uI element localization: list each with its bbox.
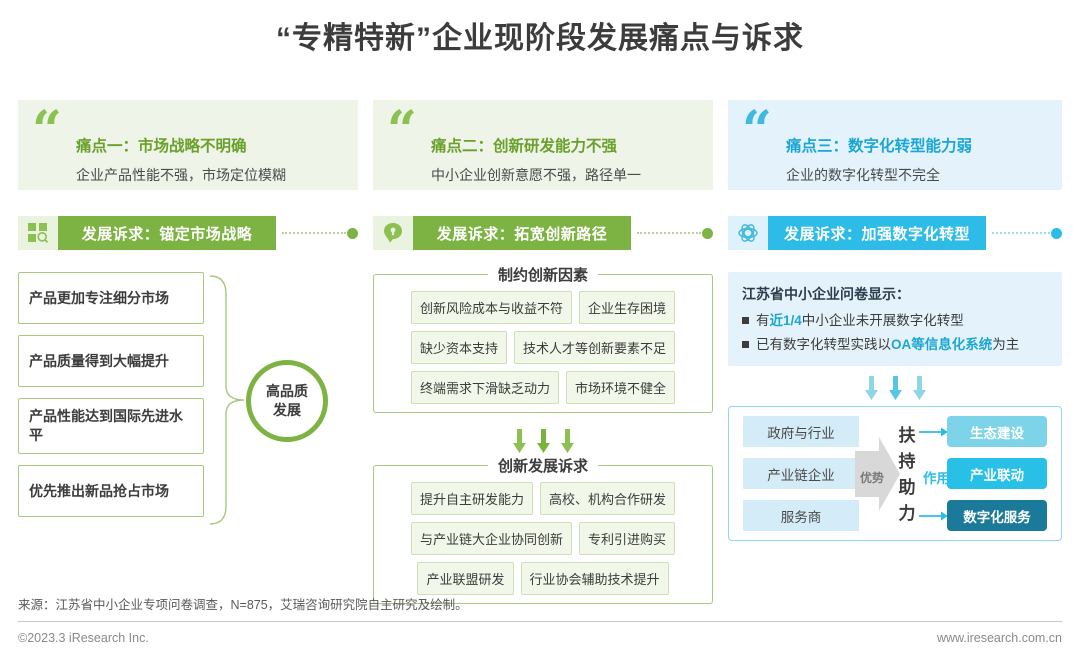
survey-bullet: 已有数字化转型实践以OA等信息化系统为主 [742, 336, 1048, 354]
tag-row: 产业联盟研发 行业协会辅助技术提升 [382, 562, 704, 595]
right-arrow-icon [919, 426, 949, 438]
demand-banner-label: 发展诉求：加强数字化转型 [768, 216, 986, 250]
circle-line-2: 发展 [273, 401, 301, 420]
circle-line-1: 高品质 [266, 382, 308, 401]
pain-card-subtitle: 中小企业创新意愿不强，路径单一 [431, 165, 699, 185]
demand-banner-1: 发展诉求：锚定市场战略 [18, 216, 358, 250]
green-down-arrows [373, 429, 713, 455]
flow-outcome-box: 产业联动 [947, 458, 1047, 489]
group-legend: 制约创新因素 [488, 264, 598, 285]
flow-actor-box: 产业链企业 [743, 458, 859, 489]
banner-connector [276, 216, 358, 250]
down-arrow-icon [912, 376, 927, 402]
quote-mark-icon: “ [742, 112, 772, 150]
connector-dot [347, 228, 358, 239]
demand-tag: 产业联盟研发 [417, 562, 513, 595]
footer-bottom-row: ©2023.3 iResearch Inc. www.iresearch.com… [18, 622, 1062, 655]
dotted-line [637, 232, 701, 234]
tag-row: 创新风险成本与收益不符 企业生存困境 [382, 291, 704, 324]
factor-tag: 终端需求下滑缺乏动力 [411, 371, 559, 404]
flow-actor-box: 服务商 [743, 500, 859, 531]
quote-mark-icon: “ [32, 112, 62, 150]
pain-card-3: “ 痛点三：数字化转型能力弱 企业的数字化转型不完全 [728, 100, 1062, 190]
pain-card-subtitle: 企业产品性能不强，市场定位模糊 [76, 165, 344, 185]
demand-tag: 专利引进购买 [579, 522, 675, 555]
pain-card-heading: 痛点二：创新研发能力不强 [431, 134, 699, 156]
square-bullet-icon [742, 317, 749, 324]
dotted-line [992, 232, 1050, 234]
blue-down-arrows [728, 376, 1062, 402]
group-legend: 创新发展诉求 [488, 455, 598, 476]
pain-card-1: “ 痛点一：市场战略不明确 企业产品性能不强，市场定位模糊 [18, 100, 358, 190]
right-arrow-icon [919, 510, 949, 522]
column-innovation: “ 痛点二：创新研发能力不强 中小企业创新意愿不强，路径单一 发展诉求：拓宽创新… [373, 100, 713, 604]
ecosystem-flow-diagram: 政府与行业 产业链企业 服务商 优势 扶持助力 作用 [728, 406, 1062, 541]
down-arrow-icon [864, 376, 879, 402]
atom-icon [728, 216, 768, 250]
grid-search-icon [18, 216, 58, 250]
effect-label: 作用 [923, 467, 950, 487]
quote-mark-icon: “ [387, 112, 417, 150]
survey-info-box: 江苏省中小企业问卷显示： 有近1/4中小企业未开展数字化转型 已有数字化转型实践… [728, 272, 1062, 366]
pain-card-subtitle: 企业的数字化转型不完全 [786, 165, 1048, 185]
down-arrow-icon [536, 429, 551, 455]
page-footer: 来源：江苏省中小企业专项问卷调查，N=875，艾瑞咨询研究院自主研究及绘制。 ©… [18, 594, 1062, 655]
demand-tag: 行业协会辅助技术提升 [521, 562, 669, 595]
pain-card-heading: 痛点三：数字化转型能力弱 [786, 134, 1048, 156]
column-digital-transformation: “ 痛点三：数字化转型能力弱 企业的数字化转型不完全 发展诉求：加强数字化转型 [728, 100, 1062, 541]
tag-row: 提升自主研发能力 高校、机构合作研发 [382, 482, 704, 515]
website-link[interactable]: www.iresearch.com.cn [937, 631, 1062, 645]
survey-bullet: 有近1/4中小企业未开展数字化转型 [742, 312, 1048, 330]
flow-outcomes: 生态建设 产业联动 数字化服务 [947, 416, 1047, 542]
square-bullet-icon [742, 341, 749, 348]
infographic-page: “专精特新”企业现阶段发展痛点与诉求 “ 痛点一：市场战略不明确 企业产品性能不… [0, 0, 1080, 655]
demand-tag: 高校、机构合作研发 [540, 482, 675, 515]
column-market-strategy: “ 痛点一：市场战略不明确 企业产品性能不强，市场定位模糊 发展诉求：锚定市场战… [18, 100, 358, 528]
strategy-box: 产品更加专注细分市场 [18, 272, 204, 324]
pain-card-2: “ 痛点二：创新研发能力不强 中小企业创新意愿不强，路径单一 [373, 100, 713, 190]
demand-banner-label: 发展诉求：拓宽创新路径 [413, 216, 631, 250]
constraint-factors-group: 制约创新因素 创新风险成本与收益不符 企业生存困境 缺少资本支持 技术人才等创新… [373, 274, 713, 413]
innovation-demands-group: 创新发展诉求 提升自主研发能力 高校、机构合作研发 与产业链大企业协同创新 专利… [373, 465, 713, 604]
high-quality-circle: 高品质 发展 [246, 360, 328, 442]
banner-connector [631, 216, 713, 250]
survey-title: 江苏省中小企业问卷显示： [742, 284, 1048, 304]
factor-tag: 创新风险成本与收益不符 [411, 291, 572, 324]
idea-pin-icon [373, 216, 413, 250]
down-arrow-icon [512, 429, 527, 455]
flow-outcome-box: 生态建设 [947, 416, 1047, 447]
tag-row: 终端需求下滑缺乏动力 市场环境不健全 [382, 371, 704, 404]
tag-row: 与产业链大企业协同创新 专利引进购买 [382, 522, 704, 555]
connector-dot [702, 228, 713, 239]
factor-tag: 技术人才等创新要素不足 [514, 331, 675, 364]
demand-banner-label: 发展诉求：锚定市场战略 [58, 216, 276, 250]
support-vertical-label: 扶持助力 [897, 423, 917, 527]
banner-connector [986, 216, 1062, 250]
demand-banner-3: 发展诉求：加强数字化转型 [728, 216, 1062, 250]
factor-tag: 缺少资本支持 [411, 331, 507, 364]
dotted-line [282, 232, 346, 234]
demand-banner-2: 发展诉求：拓宽创新路径 [373, 216, 713, 250]
connector-dot [1051, 228, 1062, 239]
strategy-box-list: 产品更加专注细分市场 产品质量得到大幅提升 产品性能达到国际先进水平 优先推出新… [18, 272, 358, 517]
survey-bullet-text: 已有数字化转型实践以OA等信息化系统为主 [756, 336, 1019, 354]
demand-tag: 提升自主研发能力 [411, 482, 533, 515]
strategy-box: 产品性能达到国际先进水平 [18, 398, 204, 454]
curly-brace-icon [208, 274, 248, 526]
strategy-box: 产品质量得到大幅提升 [18, 335, 204, 387]
flow-actor-box: 政府与行业 [743, 416, 859, 447]
pain-card-heading: 痛点一：市场战略不明确 [76, 134, 344, 156]
chevron-label: 优势 [860, 469, 884, 486]
flow-outcome-box: 数字化服务 [947, 500, 1047, 531]
demand-tag: 与产业链大企业协同创新 [411, 522, 572, 555]
factor-tag: 企业生存困境 [579, 291, 675, 324]
tag-row: 缺少资本支持 技术人才等创新要素不足 [382, 331, 704, 364]
factor-tag: 市场环境不健全 [566, 371, 675, 404]
down-arrow-icon [560, 429, 575, 455]
source-note: 来源：江苏省中小企业专项问卷调查，N=875，艾瑞咨询研究院自主研究及绘制。 [18, 594, 1062, 621]
copyright-text: ©2023.3 iResearch Inc. [18, 631, 149, 645]
strategy-box: 优先推出新品抢占市场 [18, 465, 204, 517]
flow-actors: 政府与行业 产业链企业 服务商 [743, 416, 859, 542]
survey-bullet-text: 有近1/4中小企业未开展数字化转型 [756, 312, 964, 330]
down-arrow-icon [888, 376, 903, 402]
page-title: “专精特新”企业现阶段发展痛点与诉求 [0, 0, 1080, 62]
